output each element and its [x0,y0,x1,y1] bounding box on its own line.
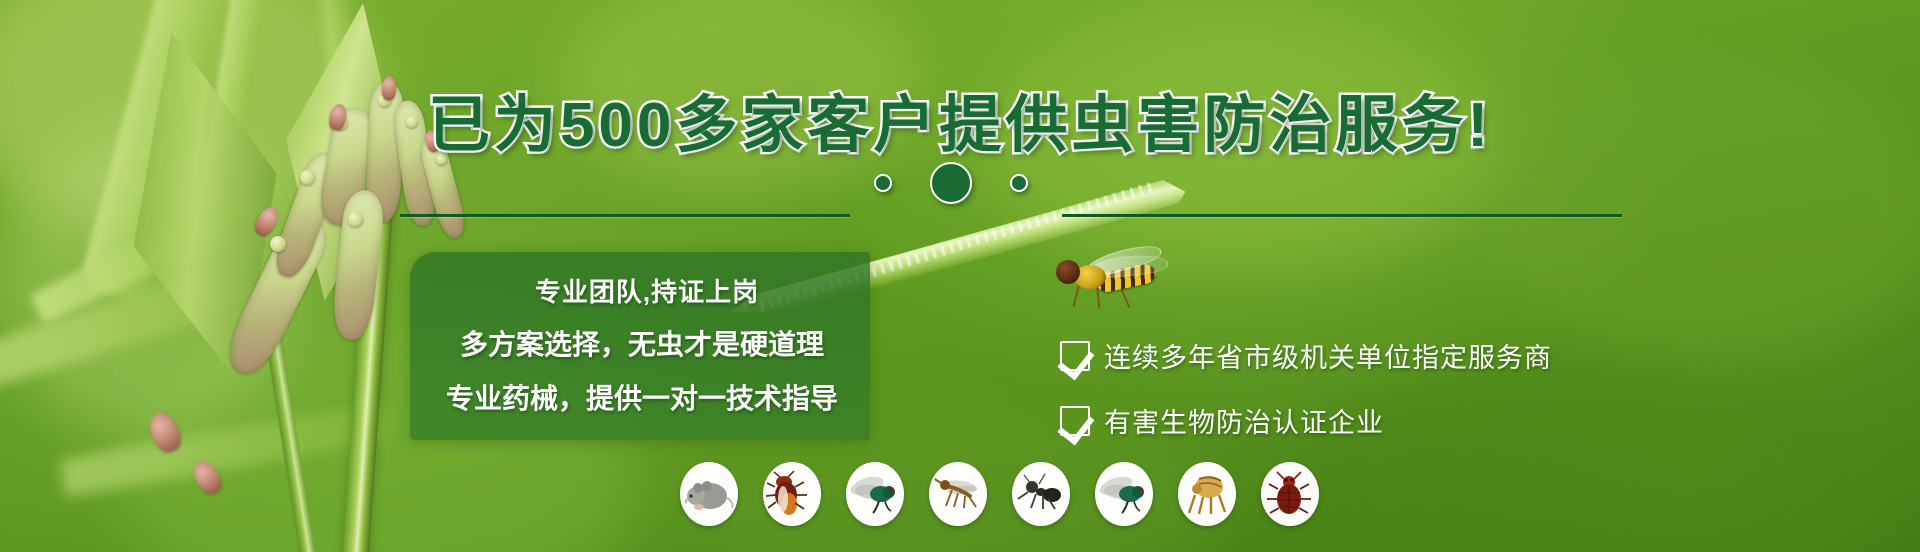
flea-icon [1178,462,1236,526]
decorative-divider [0,160,1920,208]
checklist-item-label: 有害生物防治认证企业 [1104,401,1384,440]
panel-line-2: 多方案选择，无虫才是硬道理 [436,323,848,363]
ant-icon [1012,462,1070,526]
checkbox-checked-icon [1060,406,1090,436]
mouse-icon [680,462,738,526]
cockroach-icon [763,462,821,526]
checklist-item: 连续多年省市级机关单位指定服务商 [1060,336,1700,375]
checklist-item-label: 连续多年省市级机关单位指定服务商 [1104,336,1552,375]
credentials-checklist: 连续多年省市级机关单位指定服务商 有害生物防治认证企业 [1060,336,1700,466]
hoverfly-insect [1052,252,1170,308]
divider-rule-right [1062,214,1622,217]
decor-dot-small-left [874,174,892,192]
decor-dot-large [930,162,972,204]
checkbox-checked-icon [1060,341,1090,371]
fly-icon [846,462,904,526]
divider-rule-left [400,214,850,217]
pest-icon-row [680,462,1319,526]
mosquito-icon [929,462,987,526]
pest-control-banner: 已为500多家客户提供虫害防治服务! 专业团队,持证上岗 多方案选择，无虫才是硬… [0,0,1920,552]
selling-points-panel: 专业团队,持证上岗 多方案选择，无虫才是硬道理 专业药械，提供一对一技术指导 [410,252,870,440]
banner-headline: 已为500多家客户提供虫害防治服务! [0,74,1920,164]
panel-line-1: 专业团队,持证上岗 [436,272,848,309]
bedbug-icon [1261,462,1319,526]
checklist-item: 有害生物防治认证企业 [1060,401,1700,440]
banner-headline-text: 已为500多家客户提供虫害防治服务! [428,91,1492,160]
decor-dot-small-right [1010,174,1028,192]
panel-line-3: 专业药械，提供一对一技术指导 [436,377,848,417]
blowfly-icon [1095,462,1153,526]
